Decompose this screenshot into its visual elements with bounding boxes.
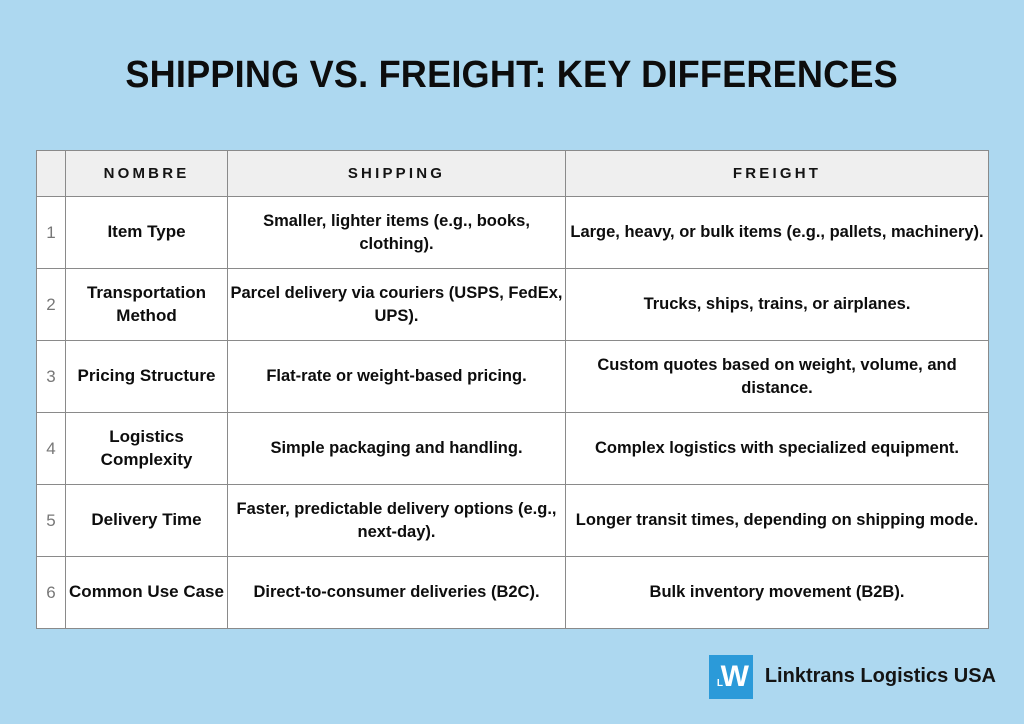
table-row: 1 Item Type Smaller, lighter items (e.g.… [37, 197, 989, 269]
footer-branding: W L Linktrans Logistics USA [0, 629, 1024, 724]
infographic-page: SHIPPING VS. FREIGHT: KEY DIFFERENCES NO… [0, 0, 1024, 724]
row-label: Common Use Case [66, 557, 228, 629]
column-header-index [37, 151, 66, 197]
linktrans-logo-icon: W L [709, 655, 753, 699]
logo-letter-l: L [717, 679, 723, 689]
row-label: Pricing Structure [66, 341, 228, 413]
row-number: 5 [37, 485, 66, 557]
brand-name: Linktrans Logistics USA [765, 665, 996, 688]
column-header-freight: FREIGHT [566, 151, 989, 197]
table-row: 4 Logistics Complexity Simple packaging … [37, 413, 989, 485]
cell-freight: Large, heavy, or bulk items (e.g., palle… [566, 197, 989, 269]
cell-freight: Longer transit times, depending on shipp… [566, 485, 989, 557]
table-row: 6 Common Use Case Direct-to-consumer del… [37, 557, 989, 629]
column-header-nombre: NOMBRE [66, 151, 228, 197]
row-label: Logistics Complexity [66, 413, 228, 485]
row-label: Item Type [66, 197, 228, 269]
table-body: 1 Item Type Smaller, lighter items (e.g.… [37, 197, 989, 629]
table-header-row: NOMBRE SHIPPING FREIGHT [37, 151, 989, 197]
table-header: NOMBRE SHIPPING FREIGHT [37, 151, 989, 197]
cell-freight: Complex logistics with specialized equip… [566, 413, 989, 485]
comparison-table: NOMBRE SHIPPING FREIGHT 1 Item Type Smal… [36, 150, 989, 629]
cell-shipping: Flat-rate or weight-based pricing. [228, 341, 566, 413]
cell-shipping: Parcel delivery via couriers (USPS, FedE… [228, 269, 566, 341]
row-label: Delivery Time [66, 485, 228, 557]
row-number: 6 [37, 557, 66, 629]
cell-shipping: Faster, predictable delivery options (e.… [228, 485, 566, 557]
cell-freight: Trucks, ships, trains, or airplanes. [566, 269, 989, 341]
cell-shipping: Smaller, lighter items (e.g., books, clo… [228, 197, 566, 269]
row-number: 2 [37, 269, 66, 341]
row-number: 3 [37, 341, 66, 413]
cell-freight: Custom quotes based on weight, volume, a… [566, 341, 989, 413]
logo-letter-w: W [709, 662, 753, 692]
page-title: SHIPPING VS. FREIGHT: KEY DIFFERENCES [126, 54, 899, 97]
row-number: 1 [37, 197, 66, 269]
cell-shipping: Simple packaging and handling. [228, 413, 566, 485]
comparison-table-container: NOMBRE SHIPPING FREIGHT 1 Item Type Smal… [36, 150, 988, 629]
table-row: 2 Transportation Method Parcel delivery … [37, 269, 989, 341]
cell-freight: Bulk inventory movement (B2B). [566, 557, 989, 629]
table-row: 5 Delivery Time Faster, predictable deli… [37, 485, 989, 557]
row-label: Transportation Method [66, 269, 228, 341]
table-row: 3 Pricing Structure Flat-rate or weight-… [37, 341, 989, 413]
title-section: SHIPPING VS. FREIGHT: KEY DIFFERENCES [0, 0, 1024, 150]
cell-shipping: Direct-to-consumer deliveries (B2C). [228, 557, 566, 629]
column-header-shipping: SHIPPING [228, 151, 566, 197]
row-number: 4 [37, 413, 66, 485]
